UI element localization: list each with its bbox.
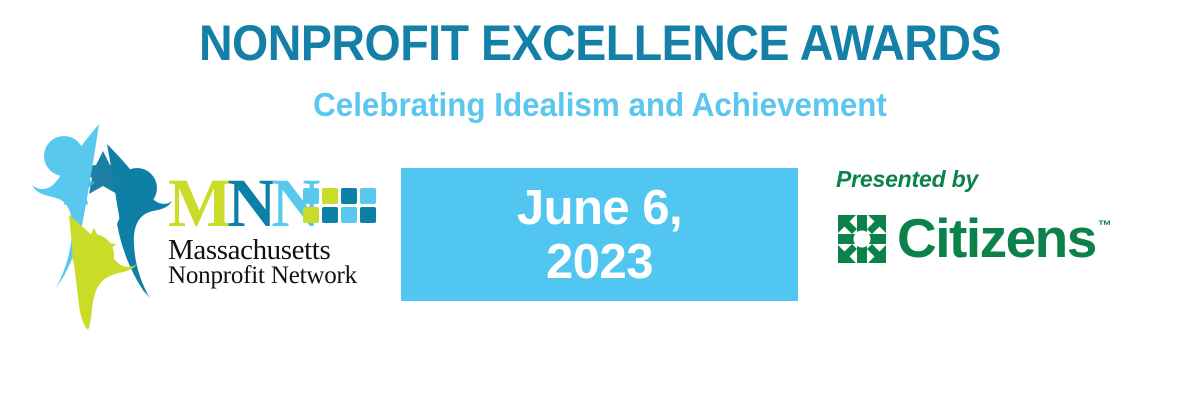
citizens-logo: Citizens ™ — [836, 211, 1156, 266]
mnn-letters: MNN — [168, 172, 315, 233]
mnn-grid-cell — [341, 188, 357, 204]
mnn-grid-cell — [322, 188, 338, 204]
mnn-letter-n-1: N — [227, 164, 271, 242]
trademark-symbol: ™ — [1098, 217, 1112, 233]
mnn-grid-cell — [341, 207, 357, 223]
presented-by-label: Presented by — [836, 168, 1156, 191]
mnn-pixel-grid — [303, 188, 376, 223]
event-date-text: June 6, 2023 — [517, 181, 682, 289]
event-date-box: June 6, 2023 — [401, 168, 798, 301]
mnn-org-line-2: Nonprofit Network — [168, 264, 383, 289]
mnn-grid-cell — [322, 207, 338, 223]
mnn-logo: MNN Massachusetts Nonprofit Network — [168, 172, 383, 284]
event-date-line-2: 2023 — [546, 235, 653, 289]
mnn-grid-cell — [303, 207, 319, 223]
three-people-with-stars-logo — [14, 72, 194, 330]
mnn-letter-m: M — [168, 164, 227, 242]
page-title: NONPROFIT EXCELLENCE AWARDS — [42, 18, 1158, 68]
citizens-wordmark: Citizens — [897, 211, 1096, 266]
mnn-grid-cell — [303, 188, 319, 204]
mnn-wordmark: MNN — [168, 172, 383, 234]
citizens-starburst-icon — [836, 213, 888, 265]
figure-teal — [107, 144, 172, 298]
awards-banner: NONPROFIT EXCELLENCE AWARDS Celebrating … — [0, 0, 1200, 400]
event-date-line-1: June 6, — [517, 181, 682, 235]
page-subtitle: Celebrating Idealism and Achievement — [30, 88, 1170, 121]
mnn-grid-cell — [360, 188, 376, 204]
sponsor-block: Presented by — [836, 168, 1156, 288]
mnn-org-name: Massachusetts Nonprofit Network — [168, 236, 383, 289]
mnn-grid-cell — [360, 207, 376, 223]
